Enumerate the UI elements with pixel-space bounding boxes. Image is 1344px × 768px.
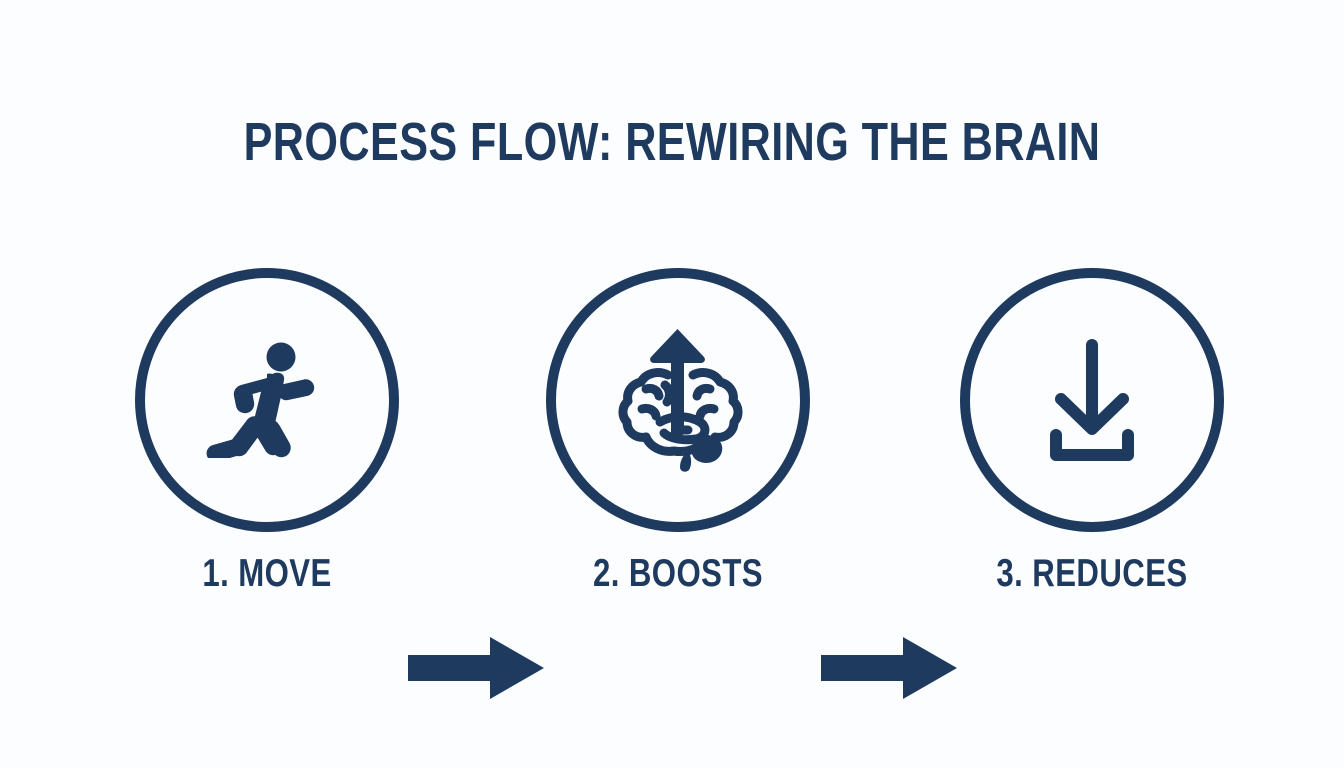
infographic-canvas: PROCESS FLOW: REWIRING THE BRAIN bbox=[0, 0, 1344, 768]
download-arrow-icon bbox=[1039, 337, 1145, 463]
page-title: PROCESS FLOW: REWIRING THE BRAIN bbox=[134, 112, 1209, 172]
step-label-reduces: 3. REDUCES bbox=[972, 552, 1212, 596]
step-label-move: 1. MOVE bbox=[147, 552, 387, 596]
process-flow-row bbox=[0, 267, 1344, 533]
right-arrow-icon bbox=[821, 637, 957, 699]
step-labels-row: 1. MOVE 2. BOOSTS 3. REDUCES bbox=[0, 552, 1344, 598]
running-person-icon bbox=[205, 342, 329, 458]
flow-step-3[interactable] bbox=[959, 267, 1225, 533]
flow-step-2[interactable] bbox=[545, 267, 811, 533]
brain-up-arrow-icon bbox=[610, 327, 746, 473]
flow-step-1[interactable] bbox=[134, 267, 400, 533]
step-label-boosts: 2. BOOSTS bbox=[558, 552, 798, 596]
right-arrow-icon bbox=[408, 637, 544, 699]
